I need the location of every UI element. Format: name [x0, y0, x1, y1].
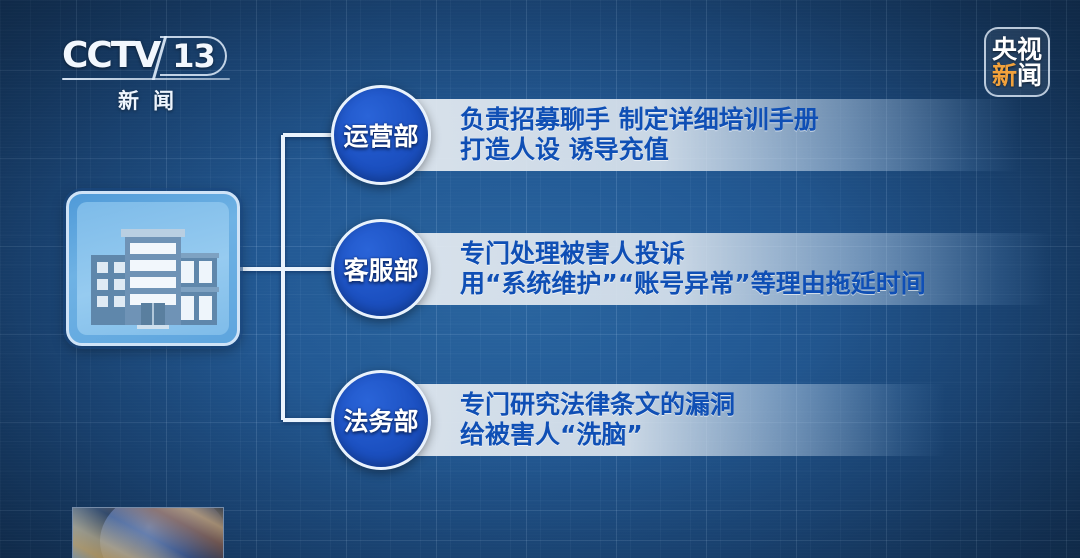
department-1-line-1: 负责招募聊手 制定详细培训手册 [460, 105, 1020, 136]
department-1-name: 运营部 [343, 117, 418, 153]
company-building-node [66, 191, 240, 346]
department-1-line-2: 打造人设 诱导充值 [460, 135, 1020, 166]
department-1-panel: 负责招募聊手 制定详细培训手册 打造人设 诱导充值 [400, 99, 1020, 171]
department-3-line-1: 专门研究法律条文的漏洞 [460, 390, 945, 421]
department-3-panel: 专门研究法律条文的漏洞 给被害人“洗脑” [400, 384, 945, 456]
watermark-xin: 新 [992, 63, 1017, 88]
broadcast-thumbnail [72, 507, 224, 558]
department-2-line-1: 专门处理被害人投诉 [460, 239, 1050, 270]
thumbnail-sheen [73, 508, 223, 558]
department-2-name: 客服部 [343, 251, 418, 287]
department-3-line-2: 给被害人“洗脑” [460, 420, 945, 451]
watermark-line-2: 新 闻 [992, 63, 1042, 88]
cctv-logo-subtitle: 新闻 [62, 85, 230, 115]
watermark-wen: 闻 [1017, 63, 1042, 88]
cctv-news-watermark-badge: 央视 新 闻 [984, 27, 1050, 97]
broadcast-graphic-screen: CCTV 13 新闻 央视 新 闻 [0, 0, 1080, 558]
company-building-inner [77, 202, 229, 335]
department-2-line-2: 用“系统维护”“账号异常”等理由拖延时间 [460, 269, 1050, 300]
company-building-icon [77, 215, 229, 335]
department-2-badge: 客服部 [331, 219, 431, 319]
cctv-underline-rule [62, 78, 230, 80]
department-3-name: 法务部 [343, 402, 418, 438]
cctv-channel-capsule: 13 [160, 36, 227, 76]
watermark-yangshi: 央视 [992, 37, 1042, 62]
watermark-line-1: 央视 [992, 37, 1042, 62]
department-3-badge: 法务部 [331, 370, 431, 470]
department-2-panel: 专门处理被害人投诉 用“系统维护”“账号异常”等理由拖延时间 [400, 233, 1050, 305]
department-1-badge: 运营部 [331, 85, 431, 185]
cctv-logo-row: CCTV 13 [62, 36, 232, 76]
cctv-wordmark: CCTV [62, 38, 159, 74]
cctv-logo: CCTV 13 新闻 [62, 36, 232, 115]
